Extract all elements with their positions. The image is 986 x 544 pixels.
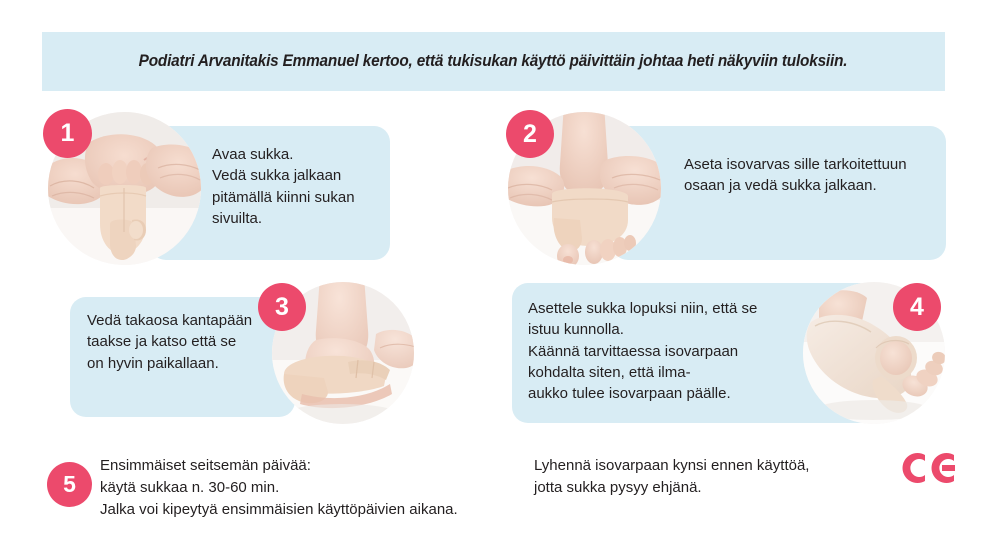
step-2-text: Aseta isovarvas sille tarkoitettuun osaa… <box>684 154 907 197</box>
step-1-badge: 1 <box>43 109 92 158</box>
infographic-page: Podiatri Arvanitakis Emmanuel kertoo, et… <box>0 0 986 544</box>
step-3-number: 3 <box>275 295 289 320</box>
step-5-number: 5 <box>63 473 76 496</box>
footer-note-text: Lyhennä isovarpaan kynsi ennen käyttöä, … <box>534 455 809 499</box>
step-2-badge: 2 <box>506 110 554 158</box>
ce-mark-glyph <box>902 450 960 486</box>
step-1-number: 1 <box>61 121 75 146</box>
step-3-text: Vedä takaosa kantapään taakse ja katso e… <box>87 310 252 374</box>
header-banner: Podiatri Arvanitakis Emmanuel kertoo, et… <box>42 32 945 91</box>
step-3-badge: 3 <box>258 283 306 331</box>
step-2-bubble: Aseta isovarvas sille tarkoitettuun osaa… <box>612 126 946 260</box>
step-4-text: Asettele sukka lopuksi niin, että se ist… <box>528 298 757 404</box>
step-2-number: 2 <box>523 122 537 147</box>
step-4-badge: 4 <box>893 283 941 331</box>
header-title: Podiatri Arvanitakis Emmanuel kertoo, et… <box>139 52 848 71</box>
step-5-badge: 5 <box>47 462 92 507</box>
step-4-number: 4 <box>910 295 924 320</box>
ce-mark-icon <box>902 450 960 486</box>
step-1-text: Avaa sukka. Vedä sukka jalkaan pitämällä… <box>212 144 355 229</box>
step-5-text: Ensimmäiset seitsemän päivää: käytä sukk… <box>100 455 458 520</box>
